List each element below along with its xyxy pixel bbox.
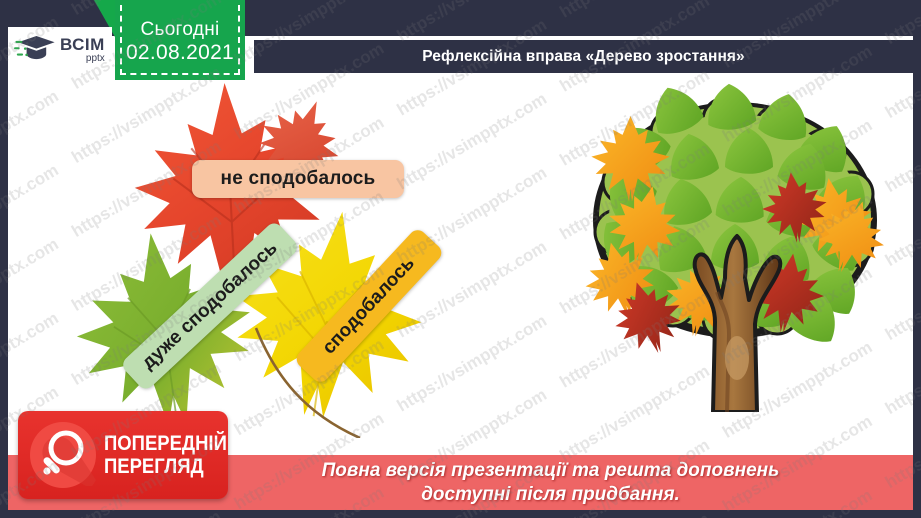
growth-tree-illustration [565,72,905,412]
label-not-liked: не сподобалось [192,160,404,198]
logo-wordmark: ВСІМ pptx [60,36,105,64]
magnifier-icon [28,420,98,490]
graduation-cap-icon [14,33,56,67]
brand-logo: ВСІМ pptx [8,27,112,73]
banner-line-1: Повна версія презентації та решта доповн… [322,459,780,482]
date-badge: Сьогодні 02.08.2021 [115,0,245,80]
logo-name: ВСІМ [60,36,105,53]
page-title: Рефлексійна вправа «Дерево зростання» [422,48,745,66]
title-bar: Рефлексійна вправа «Дерево зростання» [254,40,913,73]
slide-root: ВСІМ pptx Сьогодні 02.08.2021 Рефлексійн… [0,0,921,518]
preview-badge-text: ПОПЕРЕДНІЙ ПЕРЕГЛЯД [104,433,244,477]
date-badge-label: Сьогодні [140,19,219,41]
logo-subtitle: pptx [60,54,105,64]
date-badge-value: 02.08.2021 [126,41,234,65]
preview-line-1: ПОПЕРЕДНІЙ [104,433,227,454]
preview-line-2: ПЕРЕГЛЯД [104,456,227,477]
preview-badge[interactable]: ПОПЕРЕДНІЙ ПЕРЕГЛЯД [18,411,228,499]
banner-line-2: доступні після придбання. [322,483,780,506]
